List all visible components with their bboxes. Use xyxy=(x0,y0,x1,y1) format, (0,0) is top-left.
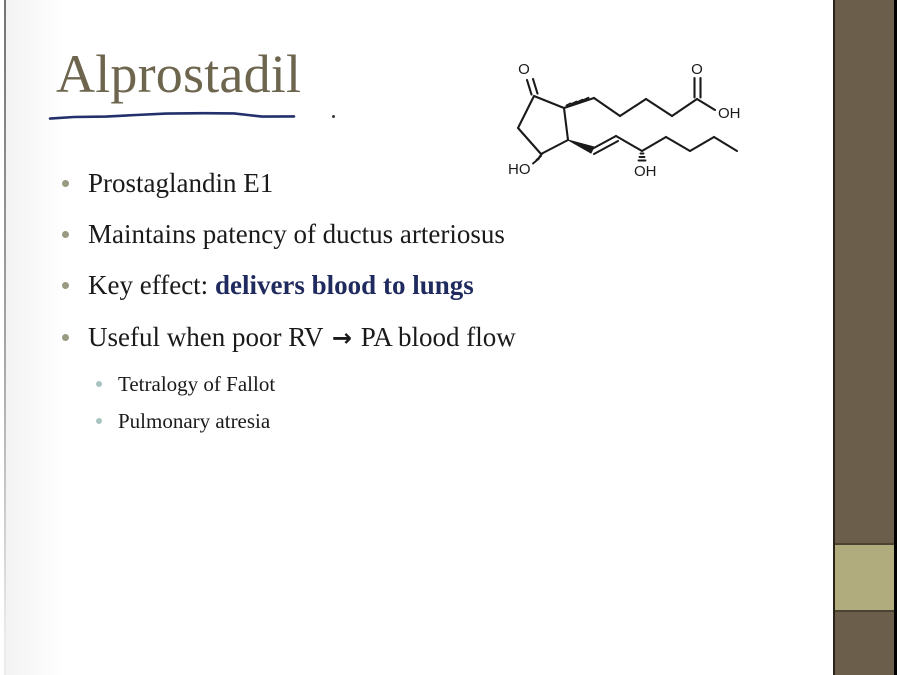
list-item: Key effect: delivers blood to lungs xyxy=(62,264,762,307)
bullet-dot-icon xyxy=(62,231,69,238)
bullet-dot-icon xyxy=(62,282,69,289)
bullet-text-before-arrow: Useful when poor RV xyxy=(88,322,330,352)
title-block: Alprostadil xyxy=(56,46,486,103)
list-item: Maintains patency of ductus arteriosus xyxy=(62,213,762,256)
chem-label-carboxyl-oxygen: O xyxy=(691,61,703,78)
prostaglandin-e1-structure-image: O O OH HO OH xyxy=(496,52,746,177)
page-title: Alprostadil xyxy=(56,46,486,103)
slide-left-edge-line xyxy=(4,0,6,675)
bullet-list: Prostaglandin E1 Maintains patency of du… xyxy=(62,162,762,441)
bullet-text-emphasis: delivers blood to lungs xyxy=(215,270,474,300)
slide-canvas: Alprostadil Prostaglandin E1 Maintains p… xyxy=(0,0,833,675)
slide-root: Alprostadil Prostaglandin E1 Maintains p… xyxy=(0,0,900,675)
bullet-dot-icon xyxy=(62,180,69,187)
list-item: Tetralogy of Fallot xyxy=(96,367,762,401)
sub-bullet-dot-icon xyxy=(96,381,102,387)
chem-label-ketone-oxygen: O xyxy=(518,61,530,78)
sub-bullet-text: Pulmonary atresia xyxy=(118,404,270,438)
bullet-text: Prostaglandin E1 xyxy=(88,162,273,205)
sidebar-accent-block xyxy=(835,543,894,612)
list-item: Pulmonary atresia xyxy=(96,404,762,438)
chem-label-ring-hydroxyl: HO xyxy=(508,161,531,177)
sub-bullet-text: Tetralogy of Fallot xyxy=(118,367,275,401)
bullet-text-rv-pa-flow: Useful when poor RV → PA blood flow xyxy=(88,316,516,359)
bullet-text-prefix: Key effect: xyxy=(88,270,215,300)
bullet-text-key-effect: Key effect: delivers blood to lungs xyxy=(88,264,474,307)
title-underline xyxy=(48,109,296,121)
bullet-dot-icon xyxy=(62,334,69,341)
sub-bullet-list: Tetralogy of Fallot Pulmonary atresia xyxy=(96,367,762,438)
right-arrow-icon: → xyxy=(330,324,354,352)
chem-label-chain-hydroxyl: OH xyxy=(634,163,657,177)
bullet-text-after-arrow: PA blood flow xyxy=(354,322,516,352)
title-trailing-dot xyxy=(332,115,335,118)
sub-bullet-dot-icon xyxy=(96,418,102,424)
chem-label-carboxyl-hydroxyl: OH xyxy=(718,105,741,122)
bullet-text: Maintains patency of ductus arteriosus xyxy=(88,213,505,256)
list-item: Useful when poor RV → PA blood flow xyxy=(62,316,762,359)
